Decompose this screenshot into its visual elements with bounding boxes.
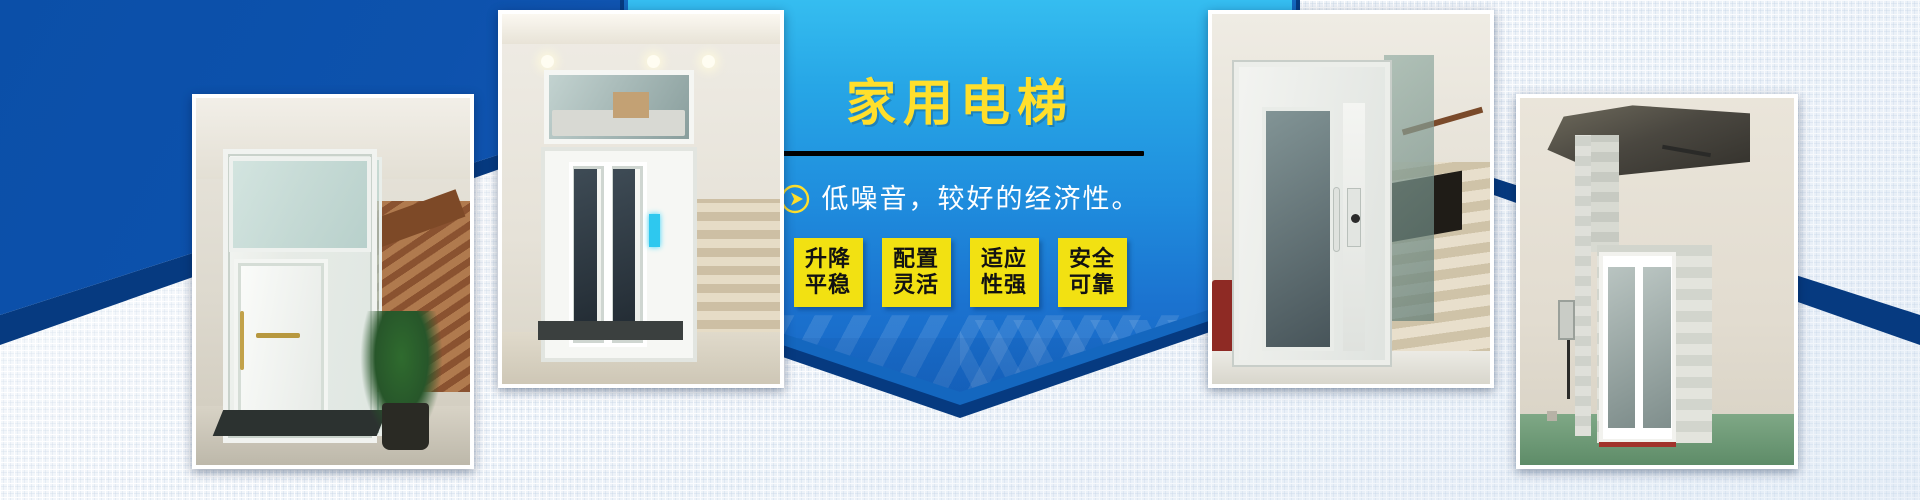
photo-3-door-handle: [1334, 188, 1339, 251]
photo-4-door-glass-right: [1643, 267, 1670, 428]
badge-line-1: 升降: [805, 247, 851, 273]
photo-2-downlight: [541, 55, 554, 68]
photo-4-shaft-column-left: [1575, 135, 1591, 436]
photo-1-door-bar: [256, 333, 300, 338]
feature-badge[interactable]: 安全 可靠: [1058, 238, 1127, 307]
feature-badge[interactable]: 适应 性强: [970, 238, 1039, 307]
badge-line-2: 可靠: [1069, 273, 1115, 299]
photo-1-door-handle: [240, 311, 244, 370]
photo-4-threshold: [1599, 442, 1676, 447]
photo-3-shaft-glass: [1384, 55, 1434, 321]
photo-2-carton: [613, 92, 649, 118]
photo-4-wall-socket: [1547, 411, 1557, 421]
photo-2-door-glass-right: [613, 169, 635, 332]
photo-4-power-cord: [1567, 340, 1570, 399]
photo-4-wall-controller: [1558, 300, 1574, 340]
badge-line-1: 安全: [1069, 247, 1115, 273]
feature-badge-list: 升降 平稳 配置 灵活 适应 性强 安全 可靠: [794, 238, 1127, 307]
home-elevator-banner: 家用电梯 低噪音，较好的经济性。 升降 平稳 配置 灵活 适应 性强: [0, 0, 1920, 500]
tagline-text: 低噪音，较好的经济性。: [822, 186, 1141, 213]
photo-2-image: [502, 14, 780, 384]
photo-3-door-glass: [1262, 107, 1334, 351]
badge-line-2: 性强: [981, 273, 1027, 299]
photo-2-crown-molding: [502, 14, 780, 44]
photo-2-downlight: [647, 55, 660, 68]
photo-4-door-glass-left: [1608, 267, 1635, 428]
photo-3-call-button: [1351, 214, 1360, 223]
photo-2-stone-stairs: [697, 199, 780, 347]
product-photo-1[interactable]: [192, 94, 474, 469]
photo-4-image: [1520, 98, 1794, 465]
photo-1-image: [196, 98, 470, 465]
badge-line-2: 灵活: [893, 273, 939, 299]
tagline-row: 低噪音，较好的经济性。: [780, 184, 1141, 214]
photo-2-control-panel: [649, 214, 660, 247]
product-photo-2[interactable]: [498, 10, 784, 388]
page-title: 家用电梯: [846, 78, 1074, 128]
badge-line-2: 平稳: [805, 273, 851, 299]
photo-2-door-glass-left: [574, 169, 596, 332]
photo-1-plant-pot: [382, 403, 429, 451]
product-photo-3[interactable]: [1208, 10, 1494, 388]
circled-play-arrow-icon: [780, 184, 810, 214]
photo-3-image: [1212, 14, 1490, 384]
title-divider: [776, 151, 1144, 156]
photo-2-threshold: [538, 321, 683, 340]
photo-1-cab-upper-glass: [229, 157, 371, 252]
product-photo-4[interactable]: [1516, 94, 1798, 469]
badge-line-1: 适应: [981, 247, 1027, 273]
feature-badge[interactable]: 升降 平稳: [794, 238, 863, 307]
feature-badge[interactable]: 配置 灵活: [882, 238, 951, 307]
photo-2-downlight: [702, 55, 715, 68]
badge-line-1: 配置: [893, 247, 939, 273]
photo-4-shaft-column-mid: [1591, 135, 1618, 252]
